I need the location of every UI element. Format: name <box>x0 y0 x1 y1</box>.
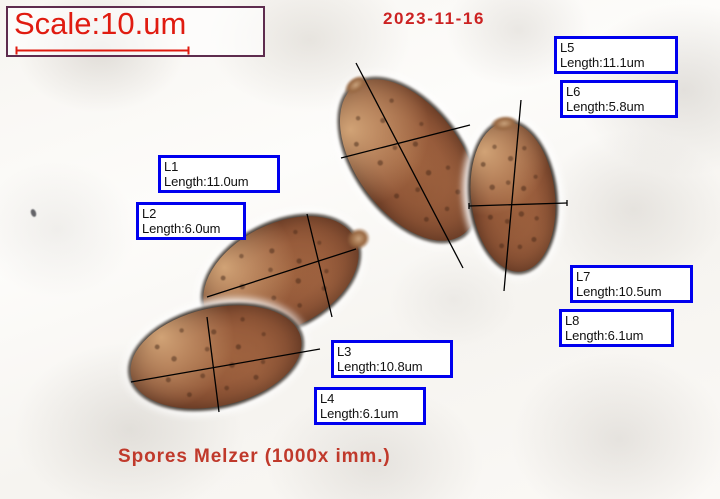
measurement-id: L4 <box>320 391 420 406</box>
measurement-id: L8 <box>565 313 668 328</box>
measurement-value: Length:6.1um <box>320 406 420 421</box>
spore-right <box>460 115 566 280</box>
capture-date-label: 2023-11-16 <box>383 9 485 29</box>
measurement-id: L2 <box>142 206 240 221</box>
measurement-id: L5 <box>560 40 672 55</box>
measurement-label-L7: L7 Length:10.5um <box>570 265 693 303</box>
measurement-value: Length:10.8um <box>337 359 447 374</box>
measurement-id: L6 <box>566 84 672 99</box>
measurement-label-L1: L1 Length:11.0um <box>158 155 280 193</box>
measurement-id: L1 <box>164 159 274 174</box>
measurement-value: Length:11.1um <box>560 55 672 70</box>
measurement-value: Length:11.0um <box>164 174 274 189</box>
measurement-value: Length:10.5um <box>576 284 687 299</box>
measurement-id: L3 <box>337 344 447 359</box>
measurement-value: Length:5.8um <box>566 99 672 114</box>
image-caption: Spores Melzer (1000x imm.) <box>118 446 391 468</box>
measurement-label-L8: L8 Length:6.1um <box>559 309 674 347</box>
measurement-value: Length:6.1um <box>565 328 668 343</box>
measurement-label-L6: L6 Length:5.8um <box>560 80 678 118</box>
scale-bar-box: Scale:10.um <box>6 6 265 57</box>
measurement-label-L4: L4 Length:6.1um <box>314 387 426 425</box>
scale-label: Scale:10.um <box>14 5 186 43</box>
measurement-label-L2: L2 Length:6.0um <box>136 202 246 240</box>
photomicrograph-canvas: Scale:10.um 2023-11-16 L1 Length:11.0um … <box>0 0 720 499</box>
measurement-label-L3: L3 Length:10.8um <box>331 340 453 378</box>
scale-bar-rule <box>15 46 190 55</box>
measurement-label-L5: L5 Length:11.1um <box>554 36 678 74</box>
spore-bottom-left <box>117 286 316 428</box>
measurement-id: L7 <box>576 269 687 284</box>
measurement-value: Length:6.0um <box>142 221 240 236</box>
